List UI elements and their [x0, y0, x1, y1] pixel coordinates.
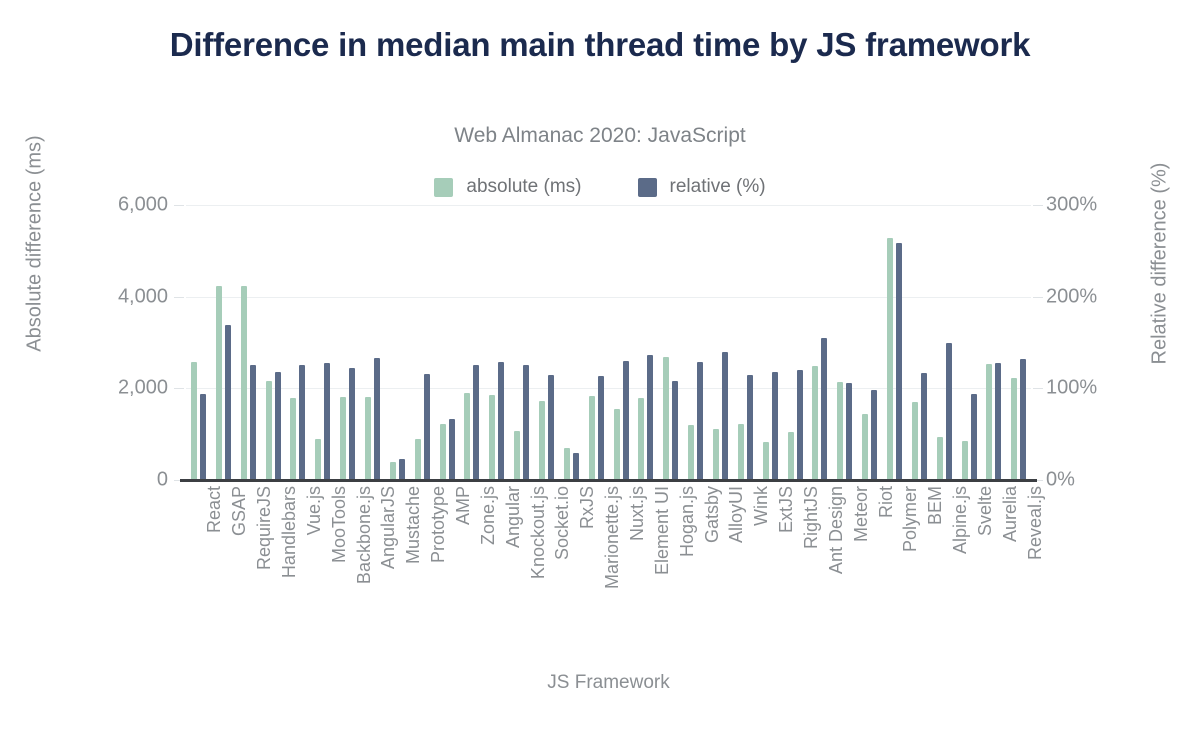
bar-relative[interactable]	[498, 362, 504, 480]
bar-absolute[interactable]	[266, 381, 272, 480]
bar-absolute[interactable]	[1011, 378, 1017, 480]
tick-mark-left	[174, 205, 184, 206]
bar-relative[interactable]	[200, 394, 206, 480]
bar-group	[186, 205, 211, 480]
tick-mark-left	[174, 388, 184, 389]
bar-absolute[interactable]	[464, 393, 470, 480]
bar-relative[interactable]	[971, 394, 977, 480]
bar-absolute[interactable]	[862, 414, 868, 480]
bar-relative[interactable]	[598, 376, 604, 480]
bar-group	[783, 205, 808, 480]
chart-title: Difference in median main thread time by…	[100, 24, 1100, 66]
bar-absolute[interactable]	[812, 366, 818, 480]
bar-group	[807, 205, 832, 480]
x-axis-tick-cell: BEM	[907, 486, 932, 666]
bar-group	[509, 205, 534, 480]
x-axis-tick-cell: Hogan.js	[658, 486, 683, 666]
x-axis-tick-cell: GSAP	[211, 486, 236, 666]
tick-mark-right	[1033, 297, 1043, 298]
bar-absolute[interactable]	[937, 437, 943, 480]
bar-relative[interactable]	[672, 381, 678, 480]
bar-absolute[interactable]	[589, 396, 595, 480]
bar-relative[interactable]	[946, 343, 952, 481]
bar-absolute[interactable]	[315, 439, 321, 480]
y-axis-right-tick-label: 0%	[1046, 469, 1075, 492]
bar-group	[335, 205, 360, 480]
x-axis-tick-cell: Alpine.js	[932, 486, 957, 666]
bar-relative[interactable]	[647, 355, 653, 480]
bar-relative[interactable]	[449, 419, 455, 480]
bar-relative[interactable]	[821, 338, 827, 480]
bar-group	[285, 205, 310, 480]
bar-absolute[interactable]	[390, 462, 396, 480]
chart-subtitle: Web Almanac 2020: JavaScript	[100, 124, 1100, 148]
bar-group	[609, 205, 634, 480]
y-axis-right-title: Relative difference (%)	[1149, 104, 1172, 424]
x-axis-tick-cell: RequireJS	[236, 486, 261, 666]
bar-relative[interactable]	[697, 362, 703, 480]
bar-relative[interactable]	[275, 372, 281, 480]
tick-mark-left	[174, 297, 184, 298]
x-axis-tick-cell: Polymer	[882, 486, 907, 666]
bar-group	[534, 205, 559, 480]
bar-group	[708, 205, 733, 480]
bar-relative[interactable]	[722, 352, 728, 480]
bar-absolute[interactable]	[290, 398, 296, 481]
plot-area	[186, 205, 1031, 480]
x-axis-tick-cell: React	[186, 486, 211, 666]
bar-relative[interactable]	[399, 459, 405, 480]
bar-absolute[interactable]	[638, 398, 644, 481]
x-axis-tick-cell: Ant Design	[807, 486, 832, 666]
bar-relative[interactable]	[548, 375, 554, 480]
bar-absolute[interactable]	[738, 424, 744, 480]
x-axis-tick-cell: Angular	[484, 486, 509, 666]
bar-relative[interactable]	[473, 365, 479, 481]
bar-absolute[interactable]	[688, 425, 694, 480]
bar-relative[interactable]	[846, 383, 852, 480]
x-axis-tick-cell: Prototype	[410, 486, 435, 666]
bar-group	[658, 205, 683, 480]
bar-group	[559, 205, 584, 480]
x-axis-tick-cell: MooTools	[310, 486, 335, 666]
x-axis-tick-label: Reveal.js	[1025, 486, 1046, 560]
x-axis-tick-cell: AlloyUI	[708, 486, 733, 666]
bar-relative[interactable]	[349, 368, 355, 480]
x-axis-tick-cell: Wink	[733, 486, 758, 666]
bar-group	[484, 205, 509, 480]
legend-item-relative[interactable]: relative (%)	[638, 176, 766, 198]
bar-group	[584, 205, 609, 480]
x-axis-tick-cell: AngularJS	[360, 486, 385, 666]
y-axis-left-tick-label: 2,000	[118, 377, 168, 400]
bar-relative[interactable]	[250, 365, 256, 481]
y-axis-right-tick-label: 200%	[1046, 285, 1097, 308]
bar-relative[interactable]	[772, 372, 778, 480]
bar-absolute[interactable]	[489, 395, 495, 480]
x-axis-tick-cell: AMP	[435, 486, 460, 666]
bar-absolute[interactable]	[340, 397, 346, 480]
bar-group	[957, 205, 982, 480]
bar-group	[1006, 205, 1031, 480]
x-axis-tick-cell: Zone.js	[459, 486, 484, 666]
chart-container: Difference in median main thread time by…	[0, 0, 1200, 742]
bar-absolute[interactable]	[241, 286, 247, 480]
bar-absolute[interactable]	[415, 439, 421, 480]
bar-group	[261, 205, 286, 480]
x-axis-tick-cell: Nuxt.js	[609, 486, 634, 666]
x-axis-tick-cell: Vue.js	[285, 486, 310, 666]
x-axis-tick-cell: Marionette.js	[584, 486, 609, 666]
tick-mark-right	[1033, 205, 1043, 206]
x-axis-tick-cell: Backbone.js	[335, 486, 360, 666]
bar-group	[360, 205, 385, 480]
bar-absolute[interactable]	[887, 238, 893, 480]
x-axis-tick-cell: Svelte	[957, 486, 982, 666]
bar-absolute[interactable]	[788, 432, 794, 480]
legend-item-absolute[interactable]: absolute (ms)	[434, 176, 581, 198]
x-axis-tick-cell: Reveal.js	[1006, 486, 1031, 666]
tick-mark-right	[1033, 388, 1043, 389]
bar-relative[interactable]	[871, 390, 877, 480]
bar-relative[interactable]	[623, 361, 629, 480]
bar-absolute[interactable]	[986, 364, 992, 480]
legend-swatch-relative	[638, 178, 657, 197]
bar-group	[857, 205, 882, 480]
bar-group	[459, 205, 484, 480]
bar-absolute[interactable]	[962, 441, 968, 480]
y-axis-left-title: Absolute difference (ms)	[24, 84, 47, 404]
bar-absolute[interactable]	[514, 431, 520, 481]
bar-relative[interactable]	[1020, 359, 1026, 480]
x-axis-tick-cell: Handlebars	[261, 486, 286, 666]
bar-relative[interactable]	[523, 365, 529, 481]
y-axis-right-tick-label: 300%	[1046, 194, 1097, 217]
x-axis-tick-cell: Gatsby	[683, 486, 708, 666]
x-axis-title: JS Framework	[186, 672, 1031, 694]
bar-absolute[interactable]	[564, 448, 570, 480]
x-axis-tick-cell: ExtJS	[758, 486, 783, 666]
x-axis-tick-cell: Meteor	[832, 486, 857, 666]
y-axis-left-tick-label: 6,000	[118, 194, 168, 217]
bar-group	[236, 205, 261, 480]
x-axis-tick-cell: Aurelia	[982, 486, 1007, 666]
y-axis-left-tick-label: 0	[157, 469, 168, 492]
x-axis-tick-cell: Knockout.js	[509, 486, 534, 666]
bar-group	[733, 205, 758, 480]
x-axis-tick-cell: Riot	[857, 486, 882, 666]
bar-relative[interactable]	[324, 363, 330, 480]
y-axis-left-tick-label: 4,000	[118, 285, 168, 308]
x-axis-tick-cell: Socket.io	[534, 486, 559, 666]
bar-group	[882, 205, 907, 480]
bar-absolute[interactable]	[837, 382, 843, 480]
bar-relative[interactable]	[299, 365, 305, 480]
bar-group	[907, 205, 932, 480]
bar-relative[interactable]	[747, 375, 753, 480]
x-axis-tick-cell: Mustache	[385, 486, 410, 666]
bar-group	[633, 205, 658, 480]
bar-relative[interactable]	[424, 374, 430, 480]
bar-group	[211, 205, 236, 480]
bar-group	[385, 205, 410, 480]
bar-group	[435, 205, 460, 480]
bar-group	[832, 205, 857, 480]
bar-relative[interactable]	[797, 370, 803, 480]
x-axis-baseline	[180, 479, 1037, 482]
bar-group	[982, 205, 1007, 480]
bar-group	[310, 205, 335, 480]
bar-absolute[interactable]	[440, 424, 446, 480]
bar-absolute[interactable]	[539, 401, 545, 480]
bar-relative[interactable]	[374, 358, 380, 480]
bar-group	[410, 205, 435, 480]
bar-absolute[interactable]	[191, 362, 197, 480]
bar-absolute[interactable]	[614, 409, 620, 481]
x-axis-tick-cell: RightJS	[783, 486, 808, 666]
legend-label-absolute: absolute (ms)	[466, 176, 581, 198]
y-axis-right-tick-label: 100%	[1046, 377, 1097, 400]
chart-legend: absolute (ms) relative (%)	[100, 176, 1100, 198]
x-axis-tick-labels: ReactGSAPRequireJSHandlebarsVue.jsMooToo…	[186, 486, 1031, 666]
bar-series-container	[186, 205, 1031, 480]
bar-absolute[interactable]	[663, 357, 669, 480]
bar-absolute[interactable]	[713, 429, 719, 480]
bar-group	[683, 205, 708, 480]
x-axis-tick-cell: Element UI	[633, 486, 658, 666]
bar-relative[interactable]	[225, 325, 231, 480]
bar-group	[932, 205, 957, 480]
bar-relative[interactable]	[573, 453, 579, 481]
bar-absolute[interactable]	[912, 402, 918, 480]
bar-relative[interactable]	[995, 363, 1001, 480]
legend-label-relative: relative (%)	[670, 176, 766, 198]
x-axis-tick-cell: RxJS	[559, 486, 584, 666]
bar-absolute[interactable]	[216, 286, 222, 480]
bar-relative[interactable]	[896, 243, 902, 480]
bar-absolute[interactable]	[365, 397, 371, 480]
bar-absolute[interactable]	[763, 442, 769, 480]
bar-group	[758, 205, 783, 480]
bar-relative[interactable]	[921, 373, 927, 480]
legend-swatch-absolute	[434, 178, 453, 197]
